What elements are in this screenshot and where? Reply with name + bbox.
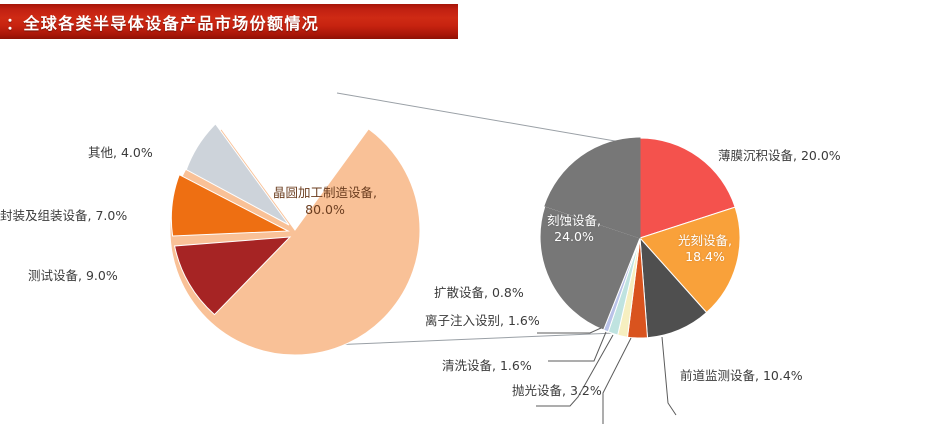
label-lithography: 光刻设备, 18.4% xyxy=(668,233,742,266)
connector-line-top xyxy=(337,93,638,145)
label-front-end-inspection: 前道监测设备, 10.4% xyxy=(680,368,803,384)
label-wafer-fabrication-value: 80.0% xyxy=(305,202,345,217)
main-pie-group xyxy=(170,124,420,355)
leader-lines xyxy=(536,328,676,424)
label-etching-value: 24.0% xyxy=(554,229,594,244)
leader-line-polishing xyxy=(603,338,631,424)
label-lithography-value: 18.4% xyxy=(685,249,725,264)
leader-line-inspection xyxy=(662,337,676,415)
label-polishing: 抛光设备, 3.2% xyxy=(512,383,602,399)
chart-title-banner: ：全球各类半导体设备产品市场份额情况 xyxy=(0,4,458,39)
leader-line-implant xyxy=(548,332,606,361)
pie-of-pie-chart: 其他, 4.0% 封装及组装设备, 7.0% 测试设备, 9.0% 晶圆加工制造… xyxy=(0,45,950,427)
label-cleaning: 清洗设备, 1.6% xyxy=(442,358,532,374)
page-title: ：全球各类半导体设备产品市场份额情况 xyxy=(6,10,319,34)
label-lithography-name: 光刻设备, xyxy=(678,233,732,248)
label-etching-name: 刻蚀设备, xyxy=(547,213,601,228)
label-test: 测试设备, 9.0% xyxy=(28,268,118,284)
label-thin-film-deposition: 薄膜沉积设备, 20.0% xyxy=(718,148,841,164)
label-etching: 刻蚀设备, 24.0% xyxy=(530,213,618,246)
label-packaging: 封装及组装设备, 7.0% xyxy=(0,208,127,224)
label-wafer-fabrication: 晶圆加工制造设备, 80.0% xyxy=(260,185,390,219)
connector-line-bottom xyxy=(330,332,640,345)
label-wafer-fabrication-name: 晶圆加工制造设备, xyxy=(273,185,377,200)
label-other: 其他, 4.0% xyxy=(88,145,153,161)
label-diffusion: 扩散设备, 0.8% xyxy=(434,285,524,301)
label-ion-implantation: 离子注入设别, 1.6% xyxy=(425,313,540,329)
leader-line-diffusion xyxy=(537,328,601,333)
